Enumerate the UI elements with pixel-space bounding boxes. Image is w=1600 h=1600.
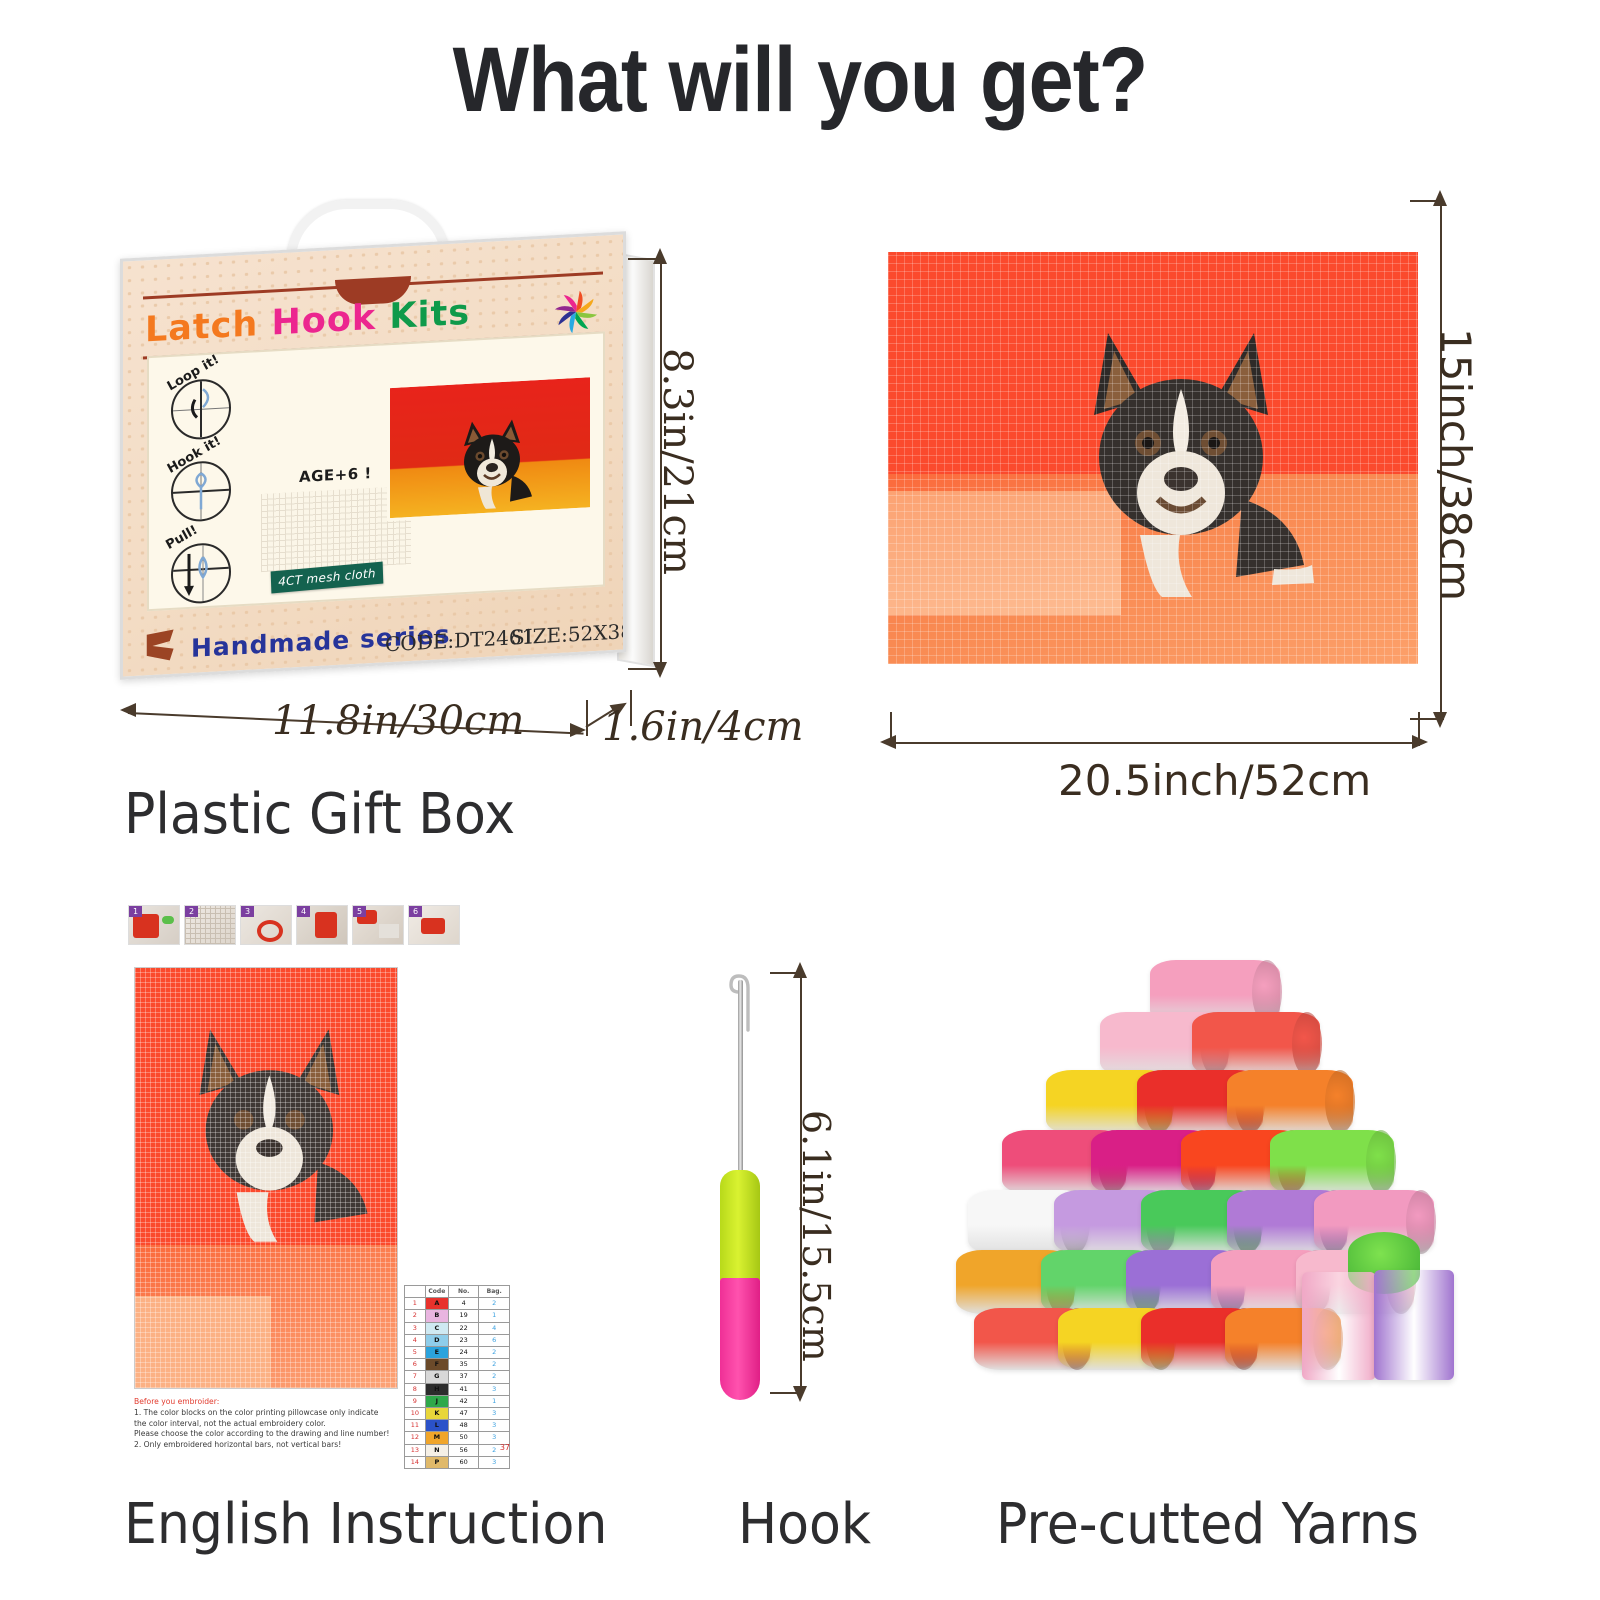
instruction-chart-graphic bbox=[134, 967, 398, 1389]
canvas-height-tick-bottom bbox=[1410, 718, 1444, 720]
yarn-coil-upright bbox=[1374, 1270, 1454, 1380]
step-thumbnail: 4 bbox=[296, 905, 348, 945]
age-recommendation: AGE+6 ! bbox=[299, 464, 372, 486]
legend-cell-bag: 2 bbox=[479, 1371, 510, 1383]
legend-cell-bag: 1 bbox=[479, 1310, 510, 1322]
thumbnail-number: 3 bbox=[241, 906, 254, 917]
caption-gift-box: Plastic Gift Box bbox=[124, 782, 515, 847]
legend-cell-no: 19 bbox=[448, 1310, 479, 1322]
legend-cell-code: L bbox=[425, 1420, 448, 1432]
yarn-bundle bbox=[1270, 1130, 1394, 1194]
legend-cell-idx: 1 bbox=[405, 1298, 426, 1310]
yarn-bundle-end bbox=[1292, 1012, 1322, 1076]
legend-cell-no: 4 bbox=[448, 1298, 479, 1310]
legend-cell-code: B bbox=[425, 1310, 448, 1322]
box-height-label: 8.3in/21cm bbox=[654, 348, 700, 575]
caption-instruction: English Instruction bbox=[124, 1492, 607, 1557]
legend-row: 5E242 bbox=[405, 1347, 510, 1359]
legend-header-row: Code No. Bag. bbox=[405, 1286, 510, 1298]
box-height-tick-bottom bbox=[628, 668, 662, 670]
canvas-width-arrow-left bbox=[880, 735, 896, 749]
box-instruction-panel: Loop it! Hook it! Pull bbox=[147, 331, 605, 611]
legend-cell-no: 23 bbox=[448, 1334, 479, 1346]
legend-cell-idx: 4 bbox=[405, 1334, 426, 1346]
step-thumbnail: 3 bbox=[240, 905, 292, 945]
legend-cell-idx: 9 bbox=[405, 1395, 426, 1407]
note-heading: Before you embroider: bbox=[134, 1397, 404, 1408]
legend-cell-code: C bbox=[425, 1322, 448, 1334]
legend-cell-bag: 3 bbox=[479, 1408, 510, 1420]
hook-handle-lower bbox=[720, 1278, 760, 1400]
yarn-bundle bbox=[1192, 1012, 1320, 1076]
legend-row: 4D236 bbox=[405, 1334, 510, 1346]
legend-cell-no: 60 bbox=[448, 1456, 479, 1468]
note-line: 1. The color blocks on the color printin… bbox=[134, 1408, 378, 1417]
legend-row: 14P603 bbox=[405, 1456, 510, 1468]
canvas-height-arrow-bottom bbox=[1433, 712, 1447, 728]
legend-header-code: Code bbox=[425, 1286, 448, 1298]
legend-row: 2B191 bbox=[405, 1310, 510, 1322]
box-depth-label: 1.6in/4cm bbox=[602, 704, 803, 750]
handmade-mark-icon bbox=[141, 621, 187, 669]
legend-cell-code: D bbox=[425, 1334, 448, 1346]
legend-cell-code: G bbox=[425, 1371, 448, 1383]
hook-length-tick-bottom bbox=[770, 1392, 802, 1394]
hook-length-label: 6.1in/15.5cm bbox=[794, 1110, 838, 1362]
legend-cell-code: K bbox=[425, 1408, 448, 1420]
canvas-height-tick-top bbox=[1410, 200, 1444, 202]
hook-handle-upper bbox=[720, 1170, 760, 1282]
legend-cell-no: 35 bbox=[448, 1359, 479, 1371]
yarn-bundle-end bbox=[1366, 1130, 1396, 1194]
hook-length-arrow-bottom bbox=[793, 1386, 807, 1402]
box-depth-tick-left bbox=[586, 700, 588, 736]
legend-cell-code: H bbox=[425, 1383, 448, 1395]
legend-cell-bag: 3 bbox=[479, 1383, 510, 1395]
box-width-arrow-left bbox=[120, 703, 136, 717]
brand-word-latch: Latch bbox=[145, 304, 258, 350]
legend-row: 3C224 bbox=[405, 1322, 510, 1334]
yarn-bundle-end bbox=[1325, 1070, 1355, 1134]
legend-header-no: No. bbox=[448, 1286, 479, 1298]
step-thumbnail: 1 bbox=[128, 905, 180, 945]
printed-canvas-image bbox=[888, 252, 1418, 664]
box-height-arrow-bottom bbox=[653, 662, 667, 678]
legend-row: 10K473 bbox=[405, 1408, 510, 1420]
note-line: the color interval, not the actual embro… bbox=[134, 1419, 326, 1428]
canvas-width-dimline bbox=[890, 742, 1418, 744]
brand-word-hook: Hook bbox=[272, 298, 377, 344]
note-line: 2. Only embroidered horizontal bars, not… bbox=[134, 1440, 341, 1449]
step-thumbnail: 6 bbox=[408, 905, 460, 945]
canvas-height-label: 15inch/38cm bbox=[1431, 328, 1480, 601]
thumbnail-number: 5 bbox=[353, 906, 366, 917]
legend-header-bag: Bag. bbox=[479, 1286, 510, 1298]
thumbnail-number: 4 bbox=[297, 906, 310, 917]
latch-hook-image bbox=[706, 972, 776, 1392]
dog-illustration bbox=[442, 408, 542, 513]
legend-cell-code: P bbox=[425, 1456, 448, 1468]
caption-hook: Hook bbox=[738, 1492, 871, 1557]
instruction-sheet-image: 1 2 3 4 5 6 bbox=[128, 905, 518, 1465]
legend-cell-idx: 3 bbox=[405, 1322, 426, 1334]
thumbnail-number: 2 bbox=[185, 906, 198, 917]
step-thumbnail-strip: 1 2 3 4 5 6 bbox=[128, 905, 460, 945]
yarn-color-legend-table: Code No. Bag. 1A422B1913C2244D2365E2426F… bbox=[404, 1285, 510, 1469]
legend-cell-bag: 2 bbox=[479, 1359, 510, 1371]
page-title: What will you get? bbox=[96, 28, 1504, 133]
brand-word-kits: Kits bbox=[389, 293, 470, 337]
legend-header-idx bbox=[405, 1286, 426, 1298]
legend-cell-idx: 6 bbox=[405, 1359, 426, 1371]
canvas-width-tick-left bbox=[890, 712, 892, 746]
legend-cell-bag: 4 bbox=[479, 1322, 510, 1334]
legend-cell-code: E bbox=[425, 1347, 448, 1359]
note-line: Please choose the color according to the… bbox=[134, 1429, 389, 1438]
box-front-face: Latch Hook Kits Loop it! bbox=[120, 231, 626, 679]
product-preview-image bbox=[387, 374, 593, 521]
legend-cell-idx: 2 bbox=[405, 1310, 426, 1322]
legend-row: 1A42 bbox=[405, 1298, 510, 1310]
legend-cell-no: 37 bbox=[448, 1371, 479, 1383]
legend-cell-bag: 3 bbox=[479, 1456, 510, 1468]
legend-cell-bag: 1 bbox=[479, 1395, 510, 1407]
thumbnail-number: 1 bbox=[129, 906, 142, 917]
gift-box-image: Latch Hook Kits Loop it! bbox=[112, 200, 652, 700]
caption-yarns: Pre-cutted Yarns bbox=[996, 1492, 1419, 1557]
legend-row: 6F352 bbox=[405, 1359, 510, 1371]
legend-cell-no: 41 bbox=[448, 1383, 479, 1395]
box-width-label: 11.8in/30cm bbox=[272, 698, 524, 744]
legend-cell-no: 48 bbox=[448, 1420, 479, 1432]
box-height-arrow-top bbox=[653, 248, 667, 264]
step-diagram-pull bbox=[171, 542, 231, 605]
yarn-bundle bbox=[1227, 1070, 1353, 1134]
canvas-dog-graphic bbox=[1036, 307, 1336, 607]
hook-length-arrow-top bbox=[793, 962, 807, 978]
legend-cell-bag: 2 bbox=[479, 1298, 510, 1310]
canvas-width-arrow-right bbox=[1412, 735, 1428, 749]
legend-cell-bag: 3 bbox=[479, 1420, 510, 1432]
legend-row: 11L483 bbox=[405, 1420, 510, 1432]
legend-cell-no: 22 bbox=[448, 1322, 479, 1334]
yarn-bundles-image bbox=[950, 950, 1470, 1420]
legend-cell-idx: 8 bbox=[405, 1383, 426, 1395]
legend-cell-idx: 5 bbox=[405, 1347, 426, 1359]
canvas-height-arrow-top bbox=[1433, 190, 1447, 206]
box-width-arrow-right bbox=[570, 723, 586, 737]
legend-cell-code: A bbox=[425, 1298, 448, 1310]
thumbnail-number: 6 bbox=[409, 906, 422, 917]
legend-cell-no: 24 bbox=[448, 1347, 479, 1359]
legend-cell-idx: 10 bbox=[405, 1408, 426, 1420]
legend-cell-bag: 6 bbox=[479, 1334, 510, 1346]
legend-cell-idx: 14 bbox=[405, 1456, 426, 1468]
legend-cell-idx: 7 bbox=[405, 1371, 426, 1383]
legend-total-count: 37 bbox=[404, 1443, 510, 1452]
box-height-tick-top bbox=[628, 258, 662, 260]
step-diagram-hook bbox=[171, 460, 231, 523]
legend-row: 7G372 bbox=[405, 1371, 510, 1383]
step-thumbnail: 5 bbox=[352, 905, 404, 945]
hook-shaft bbox=[738, 980, 743, 1180]
hook-length-tick-top bbox=[770, 972, 802, 974]
legend-cell-no: 42 bbox=[448, 1395, 479, 1407]
step-thumbnail: 2 bbox=[184, 905, 236, 945]
step-diagram-loop bbox=[171, 378, 231, 441]
legend-cell-idx: 11 bbox=[405, 1420, 426, 1432]
yarn-coil-upright bbox=[1302, 1272, 1376, 1380]
legend-cell-code: F bbox=[425, 1359, 448, 1371]
legend-row: 8H413 bbox=[405, 1383, 510, 1395]
legend-cell-no: 47 bbox=[448, 1408, 479, 1420]
legend-cell-code: J bbox=[425, 1395, 448, 1407]
canvas-width-tick-right bbox=[1418, 712, 1420, 746]
legend-row: 9J421 bbox=[405, 1395, 510, 1407]
legend-cell-bag: 2 bbox=[479, 1347, 510, 1359]
before-embroider-note: Before you embroider: 1. The color block… bbox=[134, 1397, 404, 1451]
canvas-width-label: 20.5inch/52cm bbox=[1058, 756, 1371, 805]
